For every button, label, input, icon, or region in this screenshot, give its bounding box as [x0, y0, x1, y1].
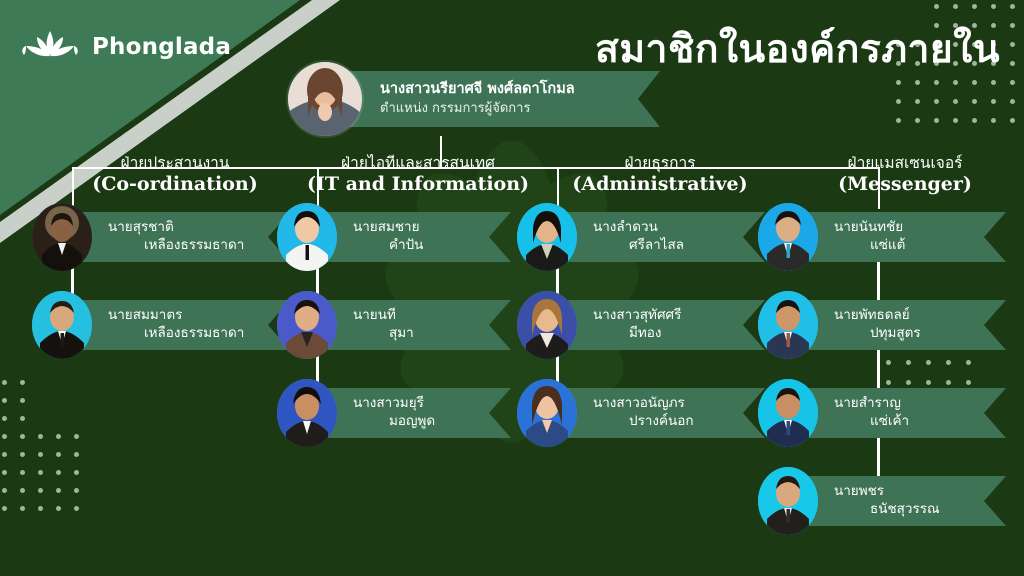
avatar: [288, 62, 362, 136]
brand-name: Phonglada: [92, 34, 231, 60]
member-name-line2: ธนัชสุวรรณ: [834, 501, 1006, 519]
member-name-line2: ศรีลาไสล: [593, 237, 765, 255]
member-name-line1: นางสาวสุทัศศรี: [593, 307, 765, 325]
member-card[interactable]: นางสาวอนัญภร ปรางค์นอก: [517, 379, 765, 447]
member-name-line1: นายสมมาตร: [108, 307, 290, 325]
dept-title-en: (Administrative): [545, 173, 775, 197]
member-card[interactable]: นางลำดวน ศรีลาไสล: [517, 203, 765, 271]
avatar: [277, 379, 337, 447]
lotus-icon: [20, 27, 80, 67]
member-name-line1: นางสาวอนัญภร: [593, 395, 765, 413]
member-ribbon: นางสาวอนัญภร ปรางค์นอก: [565, 388, 765, 438]
member-card[interactable]: นางสาวสุทัศศรี มีทอง: [517, 291, 765, 359]
member-name-line1: นายสำราญ: [834, 395, 1006, 413]
dept-title-th: ฝ่ายแมสเซนเจอร์: [790, 155, 1020, 173]
avatar: [758, 203, 818, 271]
avatar: [758, 291, 818, 359]
member-name-line1: นายนันทชัย: [834, 219, 1006, 237]
dept-header-0: ฝ่ายประสานงาน (Co-ordination): [60, 155, 290, 197]
avatar: [758, 379, 818, 447]
dot-grid-bottom-left: [2, 380, 112, 520]
avatar: [517, 203, 577, 271]
member-name-line2: เหลืองธรรมธาดา: [108, 325, 290, 343]
dept-title-th: ฝ่ายธุรการ: [545, 155, 775, 173]
executive-node[interactable]: นางสาวนรียาศจี พงศ์ลดาโกมล ตำแหน่ง กรรมก…: [288, 62, 660, 136]
member-ribbon: นายสุรชาติ เหลืองธรรมธาดา: [80, 212, 290, 262]
member-ribbon: นางสาวมยุรี มอญพูด: [325, 388, 511, 438]
avatar: [517, 291, 577, 359]
member-name-line1: นายสุรชาติ: [108, 219, 290, 237]
member-card[interactable]: นายสำราญ แซ่เค้า: [758, 379, 1006, 447]
member-ribbon: นายพัทธดลย์ ปทุมสูตร: [806, 300, 1006, 350]
member-ribbon: นายนที สุมา: [325, 300, 511, 350]
member-name-line2: ปรางค์นอก: [593, 413, 765, 431]
dept-title-en: (Co-ordination): [60, 173, 290, 197]
dept-header-1: ฝ่ายไอทีและสารสนเทศ (IT and Information): [303, 155, 533, 197]
member-card[interactable]: นายสมชาย คำปัน: [277, 203, 511, 271]
member-name-line2: เหลืองธรรมธาดา: [108, 237, 290, 255]
member-card[interactable]: นายสุรชาติ เหลืองธรรมธาดา: [32, 203, 290, 271]
member-name-line1: นางสาวมยุรี: [353, 395, 511, 413]
avatar: [32, 291, 92, 359]
member-card[interactable]: นายนันทชัย แซ่แต้: [758, 203, 1006, 271]
member-name-line1: นายสมชาย: [353, 219, 511, 237]
member-ribbon: นายนันทชัย แซ่แต้: [806, 212, 1006, 262]
executive-role: ตำแหน่ง กรรมการผู้จัดการ: [380, 100, 660, 118]
member-name-line2: ปทุมสูตร: [834, 325, 1006, 343]
member-name-line2: สุมา: [353, 325, 511, 343]
member-ribbon: นายสมชาย คำปัน: [325, 212, 511, 262]
dept-title-th: ฝ่ายไอทีและสารสนเทศ: [303, 155, 533, 173]
member-name-line2: มอญพูด: [353, 413, 511, 431]
avatar: [277, 203, 337, 271]
member-ribbon: นายพชร ธนัชสุวรรณ: [806, 476, 1006, 526]
member-name-line2: คำปัน: [353, 237, 511, 255]
member-card[interactable]: นางสาวมยุรี มอญพูด: [277, 379, 511, 447]
member-ribbon: นางลำดวน ศรีลาไสล: [565, 212, 765, 262]
avatar: [758, 467, 818, 535]
dept-header-3: ฝ่ายแมสเซนเจอร์ (Messenger): [790, 155, 1020, 197]
member-name-line1: นายพชร: [834, 483, 1006, 501]
dept-title-th: ฝ่ายประสานงาน: [60, 155, 290, 173]
member-ribbon: นางสาวสุทัศศรี มีทอง: [565, 300, 765, 350]
member-ribbon: นายสำราญ แซ่เค้า: [806, 388, 1006, 438]
org-chart-slide: Phonglada สมาชิกในองค์กรภายใน นางสาวนรีย…: [0, 0, 1024, 576]
member-name-line2: มีทอง: [593, 325, 765, 343]
brand-logo: Phonglada: [20, 27, 231, 67]
member-name-line1: นายพัทธดลย์: [834, 307, 1006, 325]
avatar: [32, 203, 92, 271]
member-name-line2: แซ่แต้: [834, 237, 1006, 255]
member-name-line1: นางลำดวน: [593, 219, 765, 237]
member-name-line1: นายนที: [353, 307, 511, 325]
member-card[interactable]: นายนที สุมา: [277, 291, 511, 359]
member-ribbon: นายสมมาตร เหลืองธรรมธาดา: [80, 300, 290, 350]
member-name-line2: แซ่เค้า: [834, 413, 1006, 431]
executive-name: นางสาวนรียาศจี พงศ์ลดาโกมล: [380, 80, 660, 100]
executive-ribbon: นางสาวนรียาศจี พงศ์ลดาโกมล ตำแหน่ง กรรมก…: [348, 71, 660, 127]
dept-title-en: (Messenger): [790, 173, 1020, 197]
dept-title-en: (IT and Information): [303, 173, 533, 197]
avatar: [517, 379, 577, 447]
member-card[interactable]: นายสมมาตร เหลืองธรรมธาดา: [32, 291, 290, 359]
avatar: [277, 291, 337, 359]
dept-header-2: ฝ่ายธุรการ (Administrative): [545, 155, 775, 197]
member-card[interactable]: นายพัทธดลย์ ปทุมสูตร: [758, 291, 1006, 359]
member-card[interactable]: นายพชร ธนัชสุวรรณ: [758, 467, 1006, 535]
